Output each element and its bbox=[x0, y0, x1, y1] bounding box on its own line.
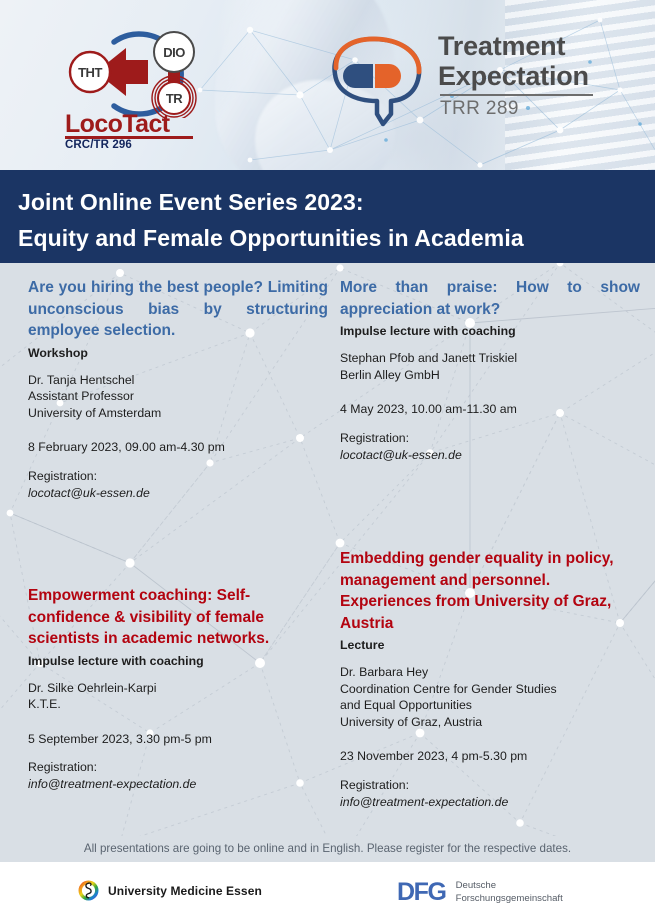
event-2-datetime: 4 May 2023, 10.00 am-11.30 am bbox=[340, 401, 640, 418]
poster: THT DIO TR LocoTact CRC/TR 296 bbox=[0, 0, 655, 922]
treatment-expectation-divider bbox=[440, 94, 593, 96]
event-3-speaker: Dr. Silke Oehrlein-Karpi bbox=[28, 680, 328, 697]
event-4-role2: and Equal Opportunities bbox=[340, 697, 640, 714]
event-3-title: Empowerment coaching: Self-confidence & … bbox=[28, 585, 328, 650]
dfg-fullname-line1: Deutsche bbox=[456, 880, 497, 891]
event-3-registration-label: Registration: bbox=[28, 759, 328, 776]
event-1-registration-label: Registration: bbox=[28, 468, 328, 485]
event-3-speaker-block: Dr. Silke Oehrlein-Karpi K.T.E. bbox=[28, 680, 328, 713]
event-card-1: Are you hiring the best people? Limiting… bbox=[28, 277, 328, 502]
event-1-datetime: 8 February 2023, 09.00 am-4.30 pm bbox=[28, 439, 328, 456]
event-1-speaker-block: Dr. Tanja Hentschel Assistant Professor … bbox=[28, 372, 328, 422]
treatment-expectation-wordmark: Treatment Expectation bbox=[438, 31, 589, 91]
event-3-role: K.T.E. bbox=[28, 696, 328, 713]
event-3-datetime: 5 September 2023, 3.30 pm-5 pm bbox=[28, 731, 328, 748]
banner-title-line1: Joint Online Event Series 2023: bbox=[18, 184, 655, 220]
event-1-title: Are you hiring the best people? Limiting… bbox=[28, 277, 328, 342]
locotact-logo-mark: THT DIO TR bbox=[62, 26, 238, 118]
treatment-expectation-subtitle: TRR 289 bbox=[440, 98, 519, 120]
asclepius-staff-icon bbox=[78, 880, 99, 901]
event-1-type: Workshop bbox=[28, 344, 328, 362]
event-card-3: Empowerment coaching: Self-confidence & … bbox=[28, 585, 328, 793]
event-4-speaker-block: Dr. Barbara Hey Coordination Centre for … bbox=[340, 664, 640, 730]
event-2-speaker-block: Stephan Pfob and Janett Triskiel Berlin … bbox=[340, 350, 640, 383]
banner-title-line2: Equity and Female Opportunities in Acade… bbox=[18, 220, 655, 256]
treatment-expectation-logo: Treatment Expectation TRR 289 bbox=[325, 28, 600, 138]
university-medicine-essen-logo: University Medicine Essen bbox=[78, 880, 262, 901]
event-2-speaker: Stephan Pfob and Janett Triskiel bbox=[340, 350, 640, 367]
event-4-registration-label: Registration: bbox=[340, 777, 640, 794]
locotact-subtitle: CRC/TR 296 bbox=[65, 139, 132, 151]
event-4-affiliation: University of Graz, Austria bbox=[340, 714, 640, 731]
event-4-datetime: 23 November 2023, 4 pm-5.30 pm bbox=[340, 748, 640, 765]
event-1-role: Assistant Professor bbox=[28, 388, 328, 405]
event-1-speaker: Dr. Tanja Hentschel bbox=[28, 372, 328, 389]
event-2-registration-email[interactable]: locotact@uk-essen.de bbox=[340, 447, 640, 464]
locotact-logo: THT DIO TR LocoTact CRC/TR 296 bbox=[62, 26, 238, 154]
dfg-abbreviation: DFG bbox=[397, 878, 446, 907]
footer-note: All presentations are going to be online… bbox=[0, 836, 655, 862]
event-2-role: Berlin Alley GmbH bbox=[340, 367, 640, 384]
locotact-wordmark: LocoTact bbox=[65, 112, 169, 137]
dfg-logo: DFG Deutsche Forschungsgemeinschaft bbox=[397, 878, 563, 907]
event-card-2: More than praise: How to show appreciati… bbox=[340, 277, 640, 464]
event-4-registration-email[interactable]: info@treatment-expectation.de bbox=[340, 794, 640, 811]
dfg-fullname: Deutsche Forschungsgemeinschaft bbox=[456, 880, 563, 905]
brain-pill-icon bbox=[325, 28, 433, 133]
event-4-role: Coordination Centre for Gender Studies bbox=[340, 681, 640, 698]
event-4-type: Lecture bbox=[340, 636, 640, 654]
event-3-registration-email[interactable]: info@treatment-expectation.de bbox=[28, 776, 328, 793]
event-3-type: Impulse lecture with coaching bbox=[28, 652, 328, 670]
svg-text:THT: THT bbox=[78, 65, 102, 80]
event-2-registration-label: Registration: bbox=[340, 430, 640, 447]
event-1-registration-email[interactable]: locotact@uk-essen.de bbox=[28, 485, 328, 502]
event-4-speaker: Dr. Barbara Hey bbox=[340, 664, 640, 681]
event-card-4: Embedding gender equality in policy, man… bbox=[340, 548, 640, 811]
event-1-affiliation: University of Amsterdam bbox=[28, 405, 328, 422]
university-medicine-essen-label: University Medicine Essen bbox=[108, 884, 262, 898]
event-2-type: Impulse lecture with coaching bbox=[340, 322, 640, 340]
header-banner-image: THT DIO TR LocoTact CRC/TR 296 bbox=[0, 0, 655, 170]
events-grid: Are you hiring the best people? Limiting… bbox=[0, 263, 655, 860]
event-series-banner: Joint Online Event Series 2023: Equity a… bbox=[0, 170, 655, 263]
dfg-fullname-line2: Forschungsgemeinschaft bbox=[456, 893, 563, 904]
svg-text:TR: TR bbox=[166, 91, 183, 106]
svg-text:DIO: DIO bbox=[163, 45, 185, 60]
event-4-title: Embedding gender equality in policy, man… bbox=[340, 548, 640, 634]
event-2-title: More than praise: How to show appreciati… bbox=[340, 277, 640, 320]
